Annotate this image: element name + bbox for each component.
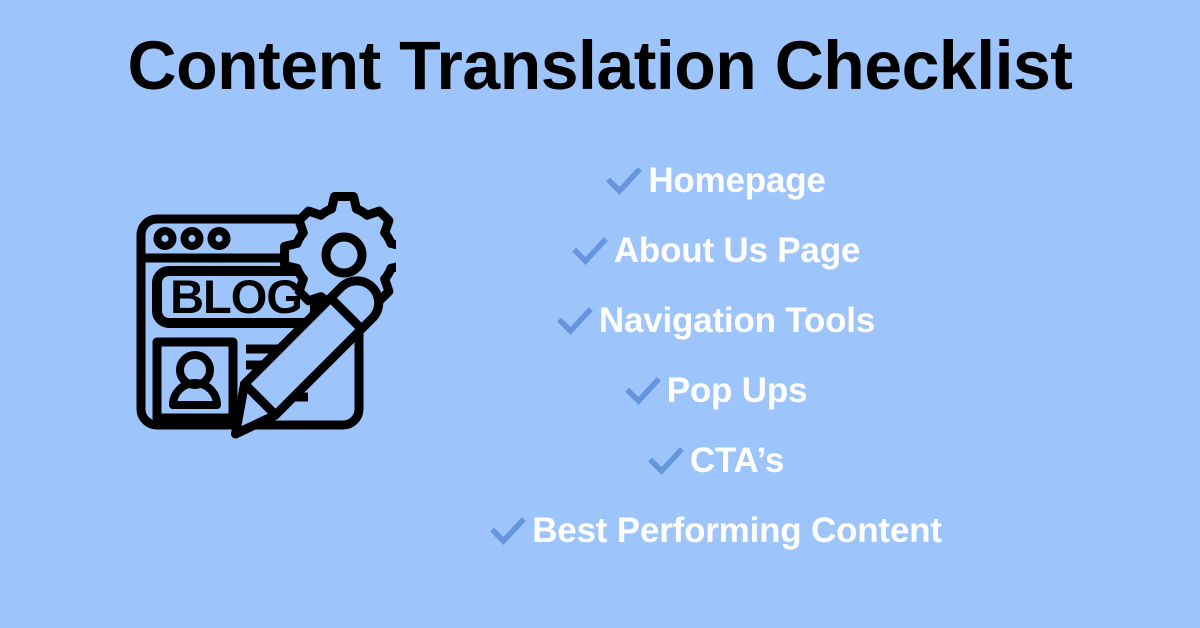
avatar-body-icon [173, 383, 217, 405]
list-item[interactable]: CTA’s [646, 426, 784, 496]
window-dot-icon [158, 231, 173, 246]
page-title: Content Translation Checklist [9, 26, 1191, 106]
list-item-label: Best Performing Content [532, 511, 942, 551]
list-item[interactable]: Navigation Tools [555, 286, 875, 356]
list-item[interactable]: About Us Page [570, 216, 860, 286]
list-item[interactable]: Pop Ups [623, 356, 808, 426]
check-icon [623, 371, 663, 411]
blog-settings-illustration: BLOG [128, 192, 396, 440]
check-icon [488, 511, 528, 551]
list-item-label: Pop Ups [667, 371, 808, 411]
check-icon [646, 441, 686, 481]
check-icon [570, 231, 610, 271]
list-item[interactable]: Homepage [604, 146, 825, 216]
window-dot-icon [212, 231, 227, 246]
checklist: Homepage About Us Page Navigation Tools … [430, 146, 1000, 566]
list-item-label: Homepage [648, 161, 825, 201]
check-icon [555, 301, 595, 341]
window-dot-icon [185, 231, 200, 246]
list-item-label: CTA’s [690, 441, 784, 481]
check-icon [604, 161, 644, 201]
blog-label-text: BLOG [170, 270, 302, 323]
list-item-label: Navigation Tools [599, 301, 875, 341]
poster-canvas: Content Translation Checklist BLOG [0, 0, 1200, 628]
list-item-label: About Us Page [614, 231, 860, 271]
list-item[interactable]: Best Performing Content [488, 496, 942, 566]
